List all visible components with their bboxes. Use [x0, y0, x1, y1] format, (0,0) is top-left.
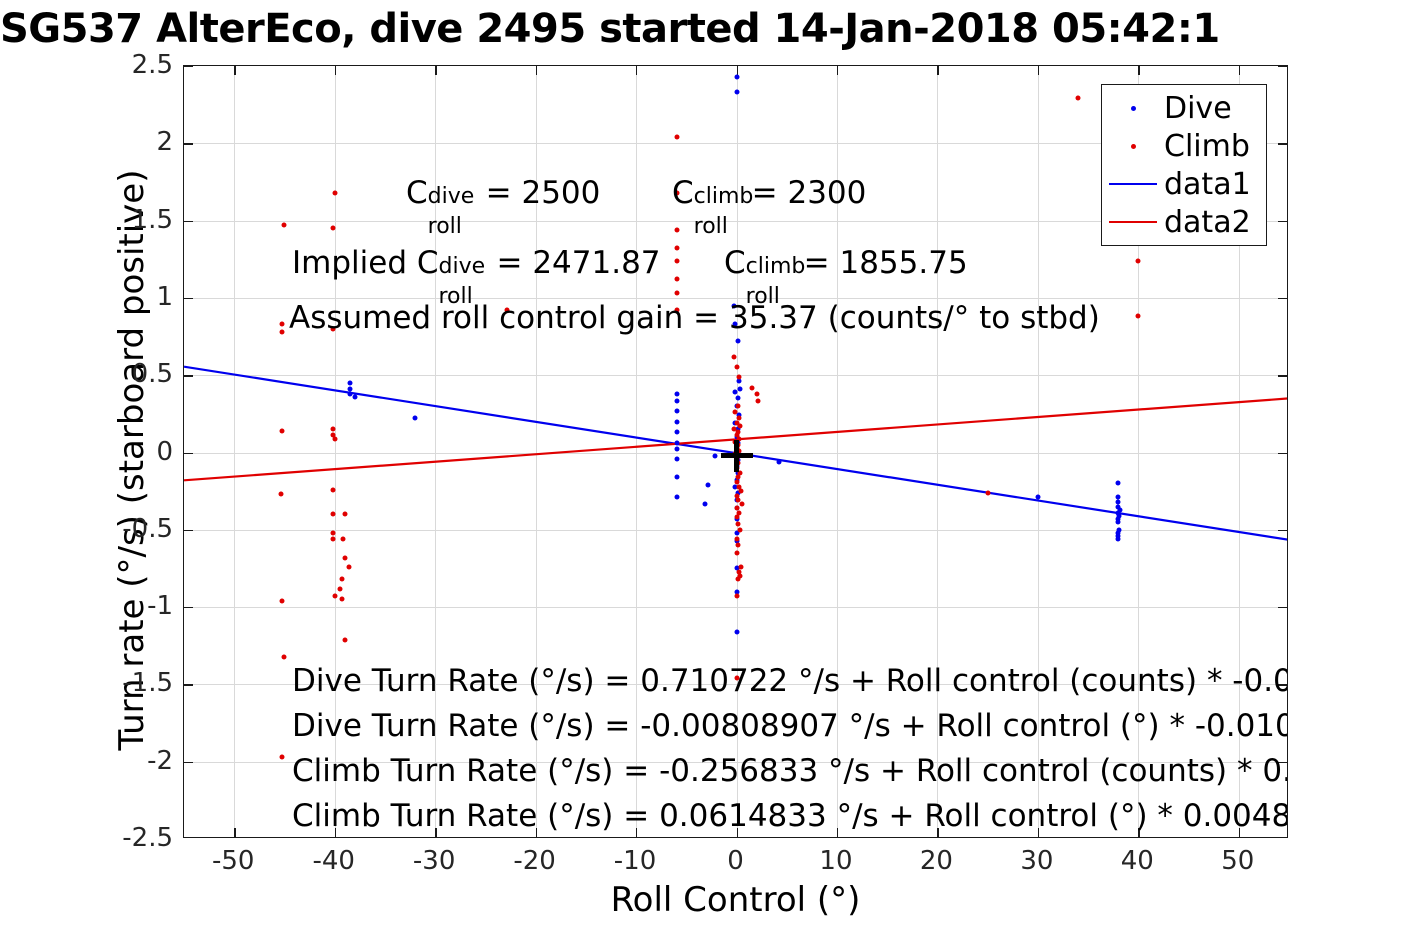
- data-point-dive: [675, 495, 680, 500]
- data-point-climb: [737, 527, 742, 532]
- data-point-climb: [675, 246, 680, 251]
- y-axis-tick-label: 0: [63, 437, 173, 467]
- y-axis-tick-label: -1.5: [63, 668, 173, 698]
- data-point-climb: [739, 501, 744, 506]
- data-point-climb: [738, 489, 743, 494]
- data-point-dive: [733, 390, 738, 395]
- data-point-dive: [675, 419, 680, 424]
- annotation-implied-c-roll-dive: Implied Cdiveroll= 2471.87: [292, 248, 661, 279]
- data-point-climb: [755, 399, 760, 404]
- annot-subscript: roll: [694, 216, 728, 238]
- y-axis-tick-label: -2: [63, 746, 173, 776]
- data-point-climb: [337, 586, 342, 591]
- data-point-dive: [675, 408, 680, 413]
- legend-item-data2[interactable]: data2: [1102, 203, 1266, 241]
- data-point-climb: [1076, 96, 1081, 101]
- data-point-dive: [1116, 520, 1121, 525]
- data-point-dive: [776, 459, 781, 464]
- data-point-climb: [749, 385, 754, 390]
- data-point-climb: [735, 543, 740, 548]
- annot-superscript: climb: [694, 186, 754, 208]
- legend-label: data1: [1164, 167, 1251, 202]
- data-point-climb: [282, 223, 287, 228]
- data-point-climb: [339, 597, 344, 602]
- data-point-climb: [1136, 314, 1141, 319]
- data-point-dive: [735, 339, 740, 344]
- y-axis-tick-label: 0.5: [63, 359, 173, 389]
- legend-dot-icon: [1102, 144, 1164, 149]
- data-point-climb: [734, 515, 739, 520]
- y-axis-tick-label: -2.5: [63, 823, 173, 853]
- data-point-climb: [280, 755, 285, 760]
- legend-line-icon: [1102, 183, 1164, 185]
- x-axis-tick-label: 30: [1020, 846, 1053, 876]
- data-point-climb: [332, 190, 337, 195]
- data-point-climb: [675, 135, 680, 140]
- data-point-climb: [735, 521, 740, 526]
- data-point-climb: [330, 427, 335, 432]
- legend-marker-line: [1109, 221, 1157, 223]
- x-axis-tick-label: 50: [1221, 846, 1254, 876]
- data-point-climb: [675, 258, 680, 263]
- data-point-dive: [1116, 481, 1121, 486]
- data-point-climb: [675, 277, 680, 282]
- annot-symbol: C: [672, 175, 694, 211]
- annotation-equation-text: Climb Turn Rate (°/s) = 0.0614833 °/s + …: [292, 798, 1288, 834]
- data-point-dive: [1116, 537, 1121, 542]
- annotation-equation-text: Climb Turn Rate (°/s) = -0.256833 °/s + …: [292, 753, 1288, 789]
- data-point-climb: [754, 391, 759, 396]
- data-point-climb: [330, 512, 335, 517]
- y-axis-tick-label: -1: [63, 591, 173, 621]
- data-point-climb: [330, 487, 335, 492]
- x-axis-label: Roll Control (°): [183, 880, 1288, 920]
- data-point-climb: [737, 424, 742, 429]
- data-point-dive: [675, 447, 680, 452]
- legend-item-data1[interactable]: data1: [1102, 165, 1266, 203]
- figure-root: SG537 AlterEco, dive 2495 started 14-Jan…: [0, 0, 1417, 945]
- data-point-climb: [279, 492, 284, 497]
- data-point-climb: [330, 537, 335, 542]
- x-axis-tick-label: 10: [819, 846, 852, 876]
- annot-superscript: dive: [439, 256, 486, 278]
- annot-superscript: climb: [746, 256, 806, 278]
- data-point-climb: [340, 537, 345, 542]
- data-point-dive: [735, 396, 740, 401]
- x-axis-tick-label: 20: [920, 846, 953, 876]
- y-axis-tick-label: 2: [63, 127, 173, 157]
- data-point-dive: [713, 453, 718, 458]
- data-point-climb: [332, 436, 337, 441]
- legend-dot-icon: [1102, 106, 1164, 111]
- annotation-equation-text: Dive Turn Rate (°/s) = 0.710722 °/s + Ro…: [292, 663, 1288, 699]
- x-axis-tick-label: -40: [312, 846, 354, 876]
- data-point-dive: [736, 379, 741, 384]
- data-point-dive: [734, 90, 739, 95]
- data-point-climb: [342, 555, 347, 560]
- annot-superscript: dive: [428, 186, 475, 208]
- annotation-eq4: Climb Turn Rate (°/s) = 0.0614833 °/s + …: [292, 801, 1288, 832]
- x-axis-tick-label: -10: [614, 846, 656, 876]
- data-point-climb: [346, 564, 351, 569]
- legend-label: data2: [1164, 205, 1251, 240]
- legend: DiveClimbdata1data2: [1101, 84, 1267, 246]
- legend-marker-line: [1109, 183, 1157, 185]
- data-point-climb: [735, 577, 740, 582]
- x-axis-tick-label: -50: [212, 846, 254, 876]
- annotation-c-roll-dive: Cdiveroll= 2500: [406, 178, 600, 209]
- data-point-climb: [735, 404, 740, 409]
- data-point-dive: [703, 501, 708, 506]
- data-point-dive: [675, 475, 680, 480]
- data-point-climb: [330, 530, 335, 535]
- data-point-dive: [347, 380, 352, 385]
- data-point-climb: [282, 654, 287, 659]
- x-axis-tick-label: -20: [513, 846, 555, 876]
- annotation-implied-c-roll-climb: Cclimbroll= 1855.75: [724, 248, 968, 279]
- data-point-dive: [413, 416, 418, 421]
- data-point-climb: [985, 490, 990, 495]
- data-point-climb: [330, 226, 335, 231]
- data-point-climb: [342, 637, 347, 642]
- data-point-dive: [675, 441, 680, 446]
- annotation-roll-control-gain: Assumed roll control gain = 35.37 (count…: [289, 303, 1100, 334]
- data-point-climb: [732, 354, 737, 359]
- data-point-climb: [1136, 258, 1141, 263]
- data-point-climb: [339, 577, 344, 582]
- page-title: SG537 AlterEco, dive 2495 started 14-Jan…: [0, 4, 1417, 54]
- legend-line-icon: [1102, 221, 1164, 223]
- origin-marker-vertical: [734, 440, 739, 472]
- data-point-climb: [342, 512, 347, 517]
- data-point-dive: [675, 430, 680, 435]
- data-point-climb: [280, 322, 285, 327]
- annotation-equation-text: Dive Turn Rate (°/s) = -0.00808907 °/s +…: [292, 708, 1288, 744]
- data-point-climb: [280, 598, 285, 603]
- data-point-climb: [675, 291, 680, 296]
- data-point-dive: [734, 74, 739, 79]
- legend-marker-dot: [1131, 106, 1136, 111]
- annot-symbol: C: [724, 245, 746, 281]
- y-axis-tick-label: 2.5: [63, 50, 173, 80]
- y-axis-tick-label: -0.5: [63, 514, 173, 544]
- data-point-climb: [734, 537, 739, 542]
- data-point-climb: [280, 329, 285, 334]
- y-axis-tick-label: 1.5: [63, 205, 173, 235]
- data-point-climb: [734, 550, 739, 555]
- data-point-climb: [675, 227, 680, 232]
- x-axis-tick-label: -30: [413, 846, 455, 876]
- annotation-eq1: Dive Turn Rate (°/s) = 0.710722 °/s + Ro…: [292, 666, 1288, 697]
- legend-marker-dot: [1131, 144, 1136, 149]
- x-axis-tick-label: 40: [1121, 846, 1154, 876]
- data-point-dive: [706, 482, 711, 487]
- annotation-c-roll-climb: Cclimbroll= 2300: [672, 178, 866, 209]
- legend-item-dive[interactable]: Dive: [1102, 89, 1266, 127]
- y-axis-tick-label: 1: [63, 282, 173, 312]
- data-point-dive: [734, 629, 739, 634]
- annotation-eq3: Climb Turn Rate (°/s) = -0.256833 °/s + …: [292, 756, 1288, 787]
- x-axis-tick-label: 0: [727, 846, 744, 876]
- data-point-dive: [675, 456, 680, 461]
- annot-symbol: C: [406, 175, 428, 211]
- data-point-dive: [1035, 495, 1040, 500]
- data-point-dive: [675, 399, 680, 404]
- legend-item-climb[interactable]: Climb: [1102, 127, 1266, 165]
- data-point-climb: [733, 410, 738, 415]
- data-point-climb: [736, 374, 741, 379]
- data-point-dive: [352, 394, 357, 399]
- data-point-dive: [675, 391, 680, 396]
- data-point-climb: [332, 594, 337, 599]
- legend-label: Dive: [1164, 91, 1232, 126]
- annot-subscript: roll: [428, 216, 462, 238]
- annotation-eq2: Dive Turn Rate (°/s) = -0.00808907 °/s +…: [292, 711, 1288, 742]
- annotation-gain-text: Assumed roll control gain = 35.37 (count…: [289, 300, 1100, 336]
- data-point-climb: [280, 428, 285, 433]
- data-point-climb: [734, 594, 739, 599]
- annot-symbol: Implied C: [292, 245, 439, 281]
- legend-label: Climb: [1164, 129, 1250, 164]
- data-point-climb: [734, 365, 739, 370]
